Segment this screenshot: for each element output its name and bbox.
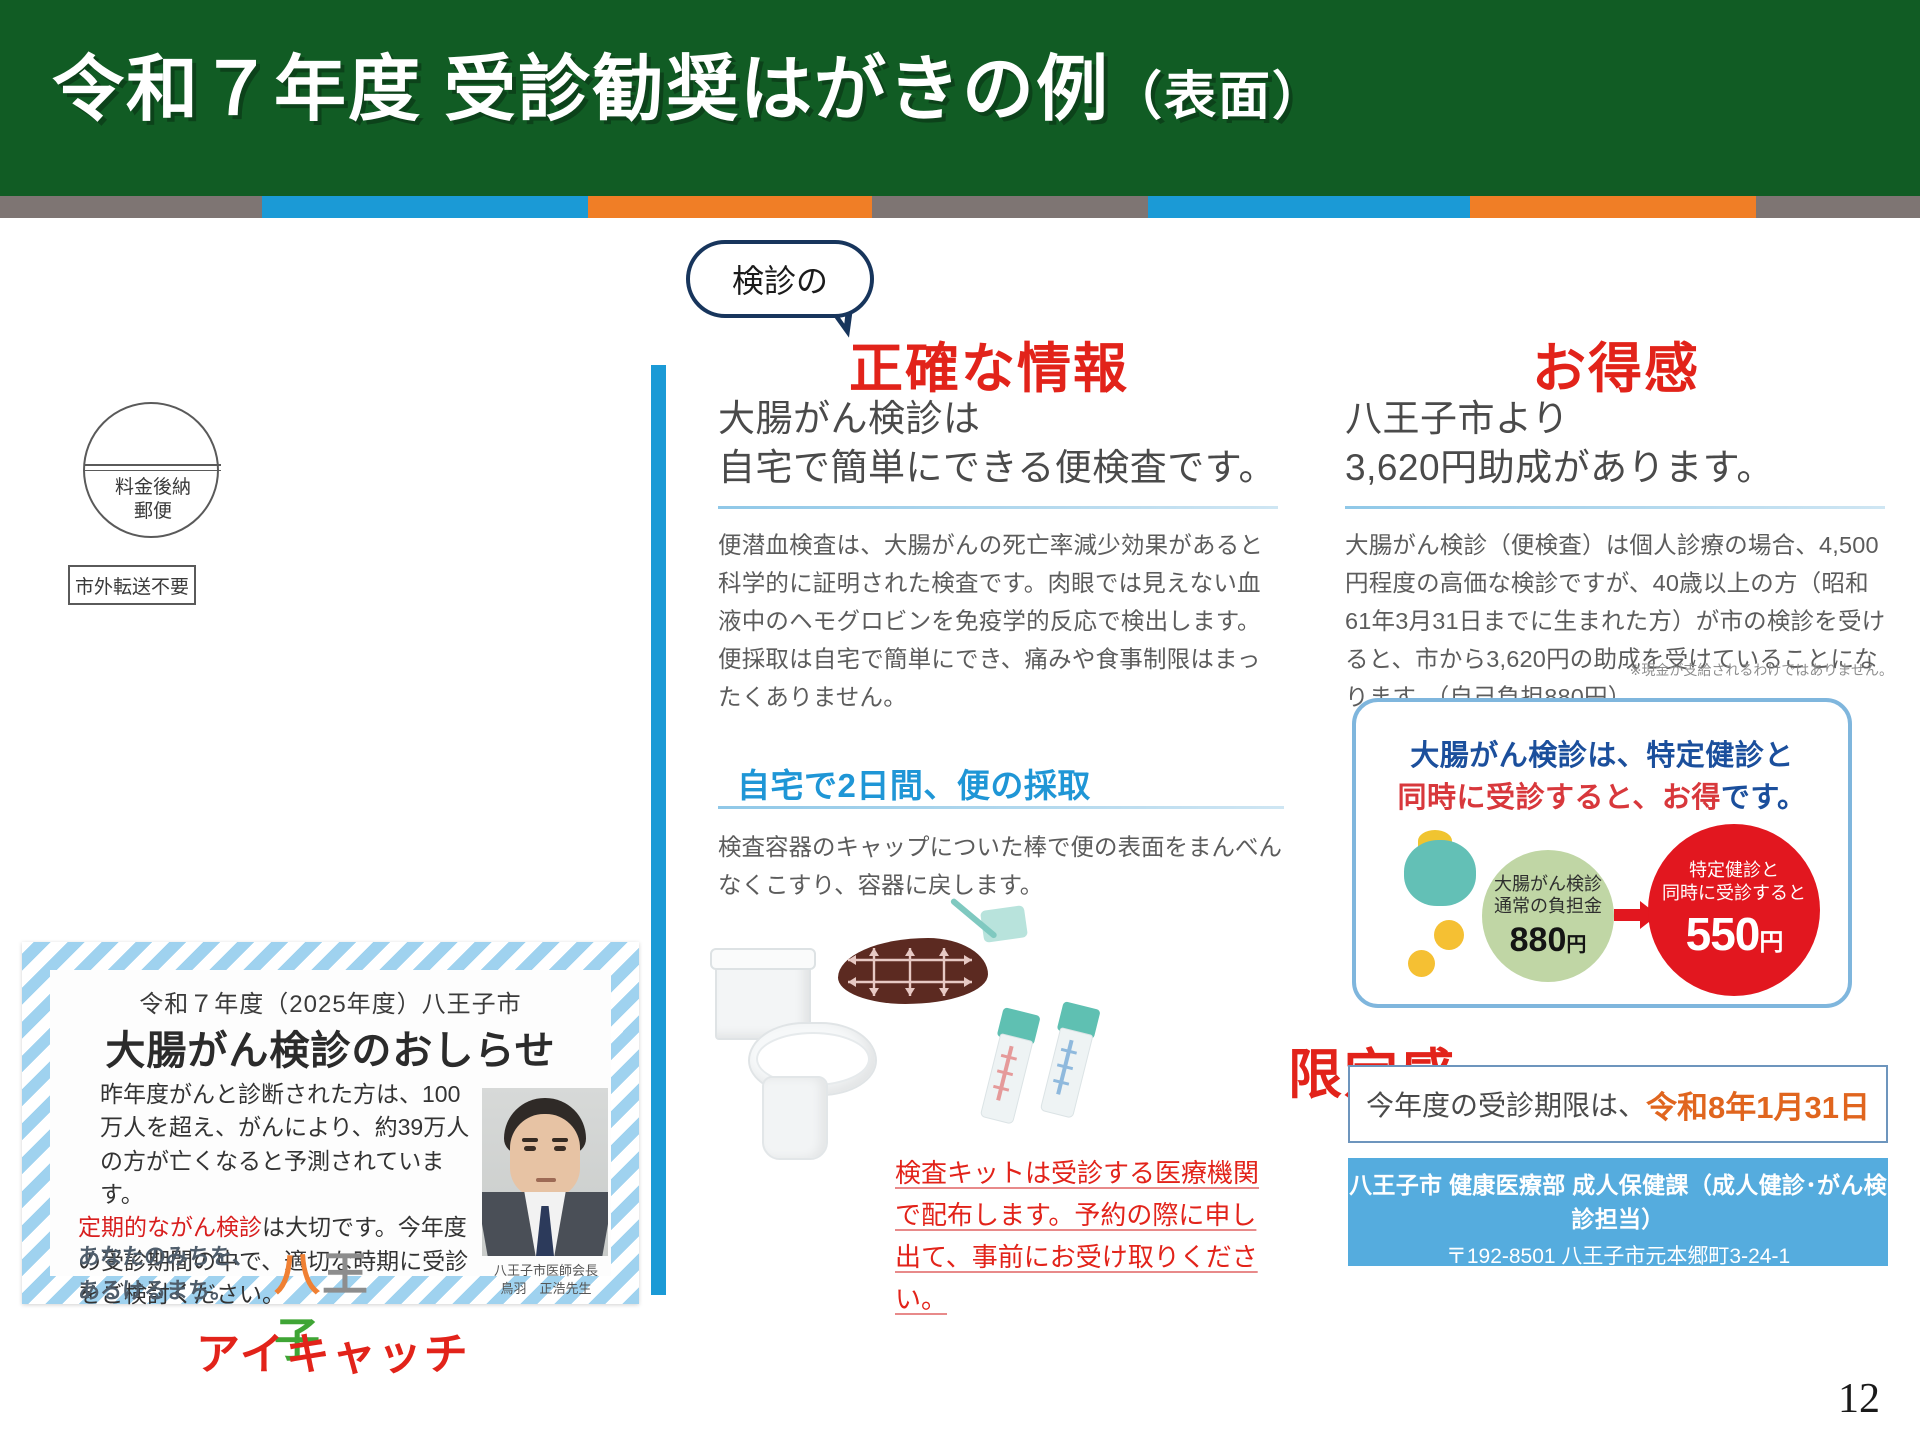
speech-bubble: 検診の: [686, 240, 874, 318]
colorbar-segment-2: [262, 196, 588, 218]
annotation-accurate-info: 正確な情報: [849, 324, 1129, 403]
middle-column-body: 便潜血検査は、大腸がんの死亡率減少効果があると科学的に証明された検査です。肉眼で…: [718, 526, 1284, 716]
middle-subsection-body: 検査容器のキャップについた棒で便の表面をまんべんなくこすり、容器に戻します。: [718, 828, 1288, 904]
middle-red-note: 検査キットは受診する医療機関で配布します。予約の際に申し出て、事前にお受け取りく…: [895, 1152, 1275, 1320]
colorbar-segment-1: [0, 196, 262, 218]
no-forwarding-box: 市外転送不要: [68, 565, 196, 605]
colorbar-segment-6: [1470, 196, 1756, 218]
middle-title-line-2: 自宅で簡単にできる便検査です。: [718, 443, 1278, 492]
coin-purse-icon: [1404, 840, 1476, 906]
normal-fee-amount: 880円: [1510, 921, 1587, 960]
normal-fee-label: 大腸がん検診 通常の負担金: [1494, 873, 1602, 918]
right-column-body: 大腸がん検診（便検査）は個人診療の場合、4,500円程度の高価な検診ですが、40…: [1345, 526, 1893, 716]
postmark-divider: [85, 464, 221, 466]
right-column-footnote: ※現金が支給されるわけではありません。: [1345, 660, 1893, 680]
doctor-title: 八王子市医師会長: [460, 1262, 632, 1280]
postcard-title: 大腸がん検診のおしらせ: [50, 1018, 611, 1076]
postcard-lead: 令和７年度（2025年度）八王子市: [50, 984, 611, 1019]
logo-char-ha: 八: [274, 1248, 322, 1300]
header-colorbar: [0, 196, 1920, 218]
colorbar-segment-3: [588, 196, 872, 218]
postcard-inner: 令和７年度（2025年度）八王子市 大腸がん検診のおしらせ 昨年度がんと診断され…: [50, 970, 611, 1276]
sample-tube-1-icon: [975, 1007, 1042, 1124]
benefit-headline-blue: です。: [1721, 782, 1807, 814]
photo-face: [510, 1114, 580, 1198]
postmark-line-1: 料金後納: [85, 476, 221, 500]
deadline-prefix: 今年度の受診期限は、: [1366, 1084, 1646, 1124]
normal-fee-circle: 大腸がん検診 通常の負担金 880円: [1482, 850, 1614, 982]
postcard-body-p1: 昨年度がんと診断された方は、100万人を超え、がんにより、約39万人の方が亡くな…: [78, 1078, 478, 1211]
logo-slogan-line-1: あなたのみちを、: [78, 1240, 254, 1274]
benefit-headline-line-1: 大腸がん検診は、特定健診と: [1356, 732, 1848, 774]
discount-fee-circle: 特定健診と 同時に受診すると 550円: [1648, 824, 1820, 996]
normal-fee-value: 880: [1510, 921, 1567, 959]
discount-fee-unit: 円: [1759, 929, 1782, 956]
doctor-photo: [482, 1088, 608, 1256]
photo-eye-right: [554, 1146, 566, 1151]
coin-icon-1: [1434, 920, 1464, 950]
toilet-base-icon: [762, 1076, 828, 1160]
deadline-box: 今年度の受診期限は、令和8年1月31日: [1348, 1065, 1888, 1143]
swab-cap: [980, 905, 1028, 943]
benefit-headline-line-2: 同時に受診すると、お得です。: [1356, 774, 1848, 816]
page-title: 令和７年度 受診勧奨はがきの例（表面）: [52, 30, 1326, 135]
middle-subsection-heading: 自宅で2日間、便の採取: [737, 759, 1091, 807]
contact-phone-fax: 電話 042-620-7428 FAX 042-621-0279: [1348, 1274, 1888, 1304]
benefit-comparison-box: 大腸がん検診は、特定健診と 同時に受診すると、お得です。 大腸がん検診 通常の負…: [1352, 698, 1852, 1008]
contact-address: 〒192-8501 八王子市元本郷町3-24-1: [1348, 1240, 1888, 1270]
photo-eye-left: [524, 1146, 536, 1151]
sampling-swab-icon: [936, 908, 1026, 1000]
colorbar-segment-5: [1148, 196, 1470, 218]
column-divider-rule: [651, 365, 666, 1295]
discount-fee-amount: 550円: [1686, 907, 1783, 961]
postmark-text: 料金後納 郵便: [85, 476, 221, 524]
colorbar-segment-7: [1756, 196, 1920, 218]
discount-fee-label-line-1: 特定健診と: [1662, 859, 1806, 882]
postcard-sample: 令和７年度（2025年度）八王子市 大腸がん検診のおしらせ 昨年度がんと診断され…: [22, 942, 639, 1304]
postmark-line-2: 郵便: [85, 500, 221, 524]
discount-fee-label: 特定健診と 同時に受診すると: [1662, 859, 1806, 906]
photo-brow-right: [552, 1138, 568, 1142]
discount-fee-value: 550: [1686, 908, 1760, 960]
hachioji-city-logo: あなたのみちを、 あるけるまち。 八王子: [78, 1238, 408, 1316]
postcard-body-highlight: 定期的ながん検診: [78, 1214, 262, 1240]
page-title-main: 令和７年度 受診勧奨はがきの例: [52, 50, 1110, 130]
page-number: 12: [1838, 1375, 1880, 1423]
right-title-underline: [1345, 506, 1885, 509]
right-title-line-1: 八王子市より: [1345, 394, 1905, 443]
colorbar-segment-4: [872, 196, 1148, 218]
discount-fee-label-line-2: 同時に受診すると: [1662, 882, 1806, 905]
coin-icon-2: [1408, 950, 1435, 977]
logo-char-ou: 王: [322, 1248, 370, 1300]
postmark-stamp-circle: 料金後納 郵便: [83, 402, 219, 538]
contact-box: 八王子市 健康医療部 成人保健課（成人健診･がん検診担当） 〒192-8501 …: [1348, 1158, 1888, 1266]
normal-fee-label-line-2: 通常の負担金: [1494, 895, 1602, 918]
deadline-date: 令和8年1月31日: [1646, 1082, 1870, 1127]
contact-department: 八王子市 健康医療部 成人保健課（成人健診･がん検診担当）: [1348, 1166, 1888, 1234]
test-kit-illustration: [700, 900, 1200, 1160]
right-title-line-2: 3,620円助成があります。: [1345, 443, 1905, 492]
middle-subsection-underline: [718, 806, 1284, 809]
sample-tube-2-icon: [1035, 1001, 1102, 1118]
middle-title-underline: [718, 506, 1278, 509]
annotation-good-deal: お得感: [1532, 324, 1700, 403]
slide-header: 令和７年度 受診勧奨はがきの例（表面）: [0, 0, 1920, 196]
page-title-paren: （表面）: [1110, 68, 1326, 126]
photo-brow-left: [522, 1138, 538, 1142]
normal-fee-unit: 円: [1566, 934, 1586, 956]
annotation-eyecatch: アイキャッチ: [196, 1318, 470, 1382]
middle-title-line-1: 大腸がん検診は: [718, 394, 1278, 443]
middle-column-title: 大腸がん検診は 自宅で簡単にできる便検査です。: [718, 394, 1278, 492]
right-column-title: 八王子市より 3,620円助成があります。: [1345, 394, 1905, 492]
logo-slogan: あなたのみちを、 あるけるまち。: [78, 1240, 254, 1308]
logo-slogan-line-2: あるけるまち。: [78, 1274, 254, 1308]
benefit-headline-red: 同時に受診すると、お得: [1398, 782, 1721, 814]
doctor-photo-caption: 八王子市医師会長 鳥羽 正浩先生: [460, 1262, 632, 1297]
doctor-name: 鳥羽 正浩先生: [460, 1280, 632, 1298]
postmark-divider-2: [85, 470, 221, 471]
photo-mouth: [536, 1178, 556, 1182]
toilet-tank-lid-icon: [710, 948, 816, 970]
normal-fee-label-line-1: 大腸がん検診: [1494, 873, 1602, 896]
